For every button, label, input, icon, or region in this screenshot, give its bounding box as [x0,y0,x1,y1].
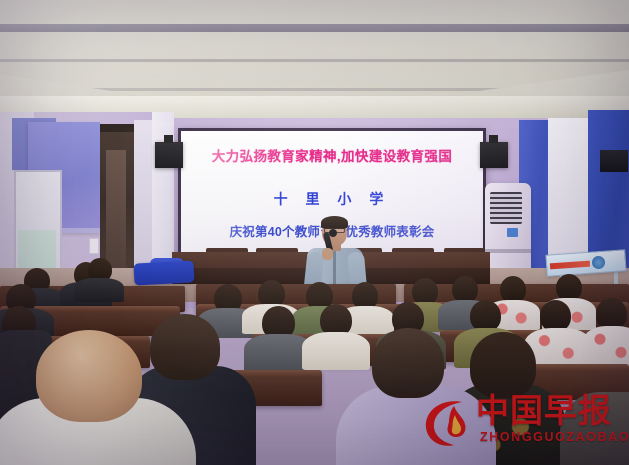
flame-circle-logo [424,396,478,448]
speaker-mount-right [489,135,498,143]
wall-monitor-far-right [600,150,628,172]
suit-head [150,314,220,380]
blue-bag [133,260,194,285]
purple-shirt-head [372,328,444,398]
speaker-mount-left [164,135,173,143]
floral-head [470,332,536,398]
wall-speaker-right [480,142,508,168]
wall-switch [89,238,99,254]
microphone-head [329,229,337,237]
air-conditioner-seam [485,249,531,253]
presenter-hand [322,248,333,260]
photograph-auditorium-ceremony: 大力弘扬教育家精神,加快建设教育强国 十 里 小 学 庆祝第40个教师节暨优秀教… [0,0,629,465]
watermark-brand-cn: 中国早报 [476,392,612,430]
watermark: 中国早报 ZHONGGUOZAOBAO [424,390,624,456]
door-header [100,124,136,132]
wall-speaker-left [155,142,183,168]
watermark-brand-pinyin: ZHONGGUOZAOBAO [480,430,629,444]
air-conditioner-badge [507,228,518,237]
bald-head [36,330,142,422]
air-conditioner-vent [490,192,522,224]
ceiling-shading [0,0,629,122]
